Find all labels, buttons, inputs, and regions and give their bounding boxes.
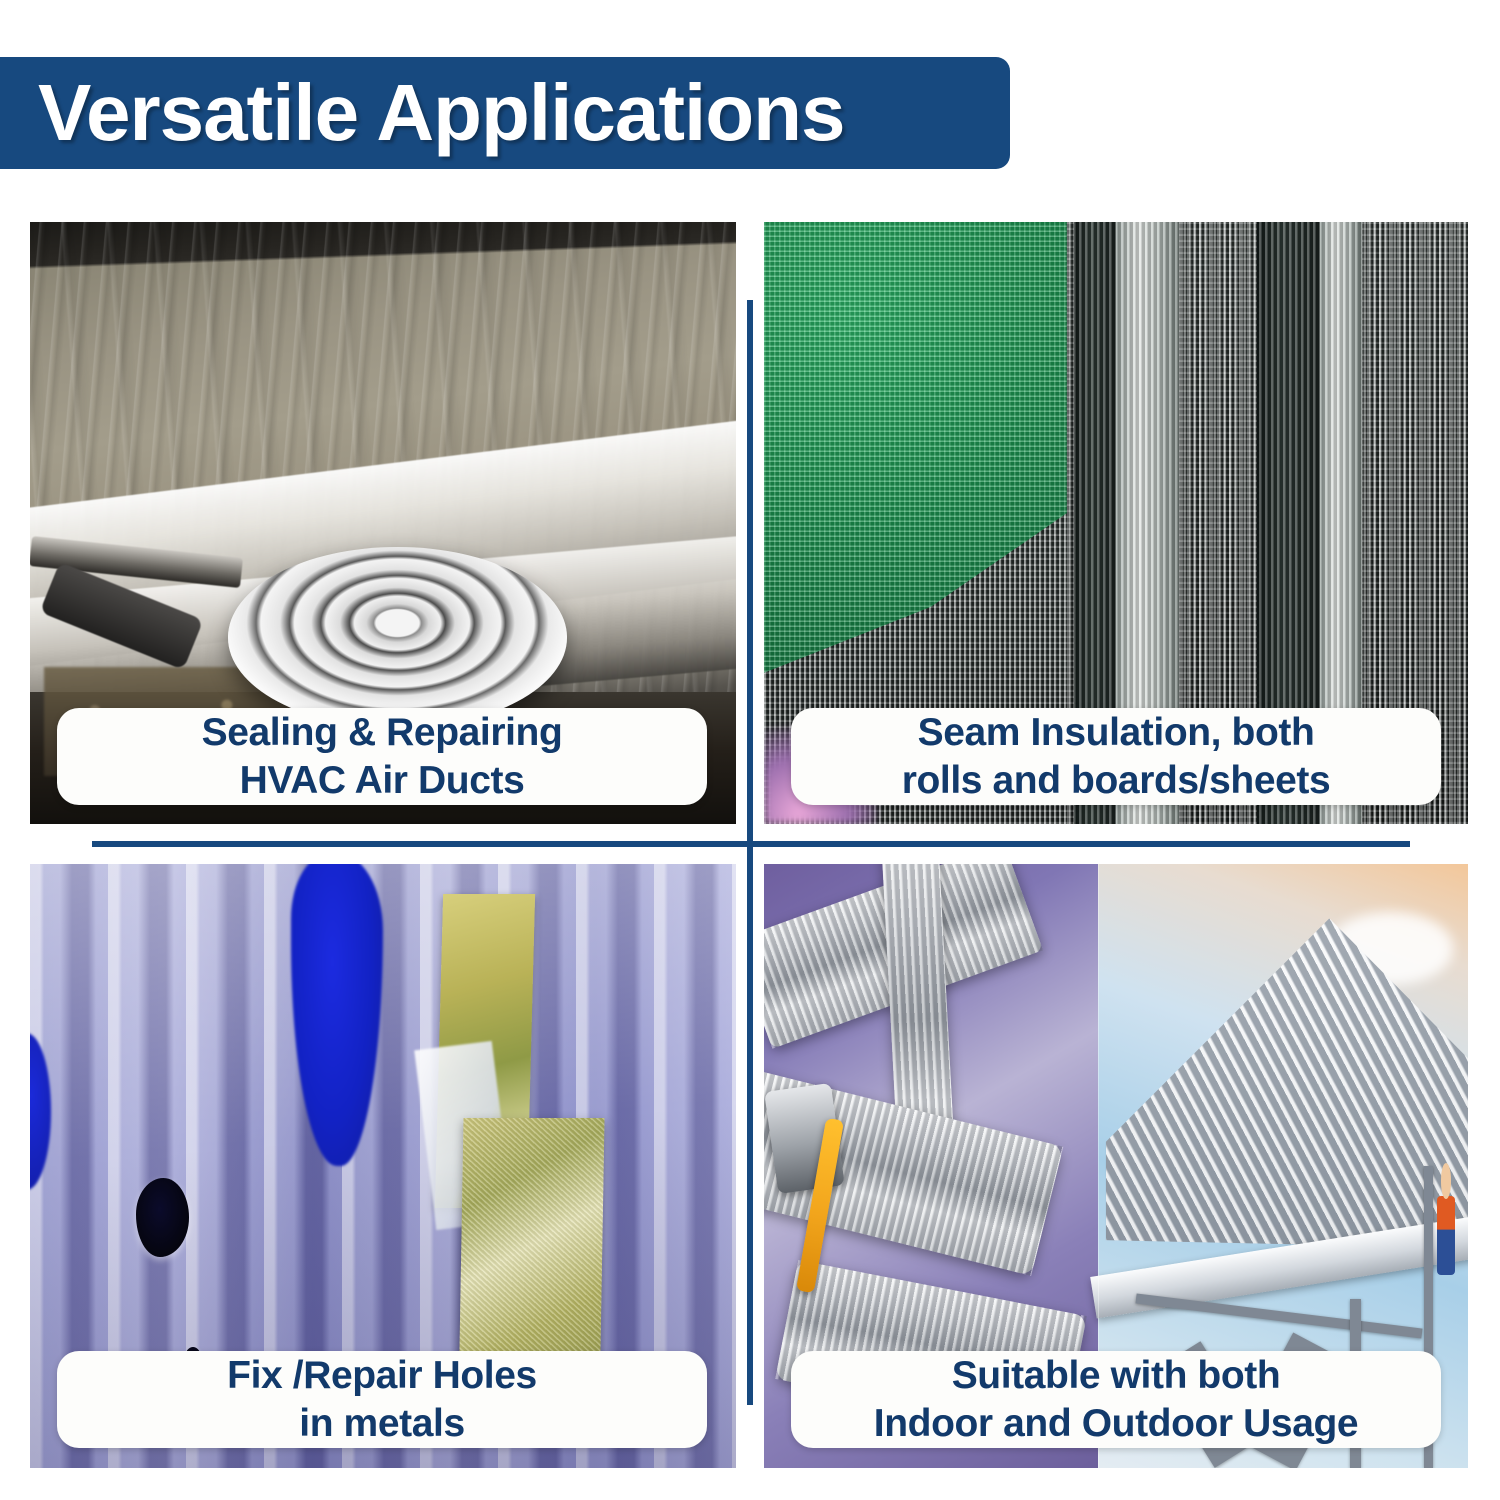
support-beam-1 [1136,1293,1423,1338]
caption-line-1: Suitable with both [952,1352,1281,1400]
caption-card-hvac: Sealing & Repairing HVAC Air Ducts [57,708,707,805]
header-banner: Versatile Applications [0,57,1010,169]
construction-worker [1437,1196,1455,1275]
page-title: Versatile Applications [38,73,844,153]
caption-line-2: in metals [299,1400,464,1448]
caption-card-seam: Seam Insulation, both rolls and boards/s… [791,708,1441,805]
divider-vertical [747,300,753,1405]
large-hole [136,1178,189,1257]
caption-line-1: Fix /Repair Holes [227,1352,537,1400]
caption-card-usage: Suitable with both Indoor and Outdoor Us… [791,1351,1441,1448]
divider-horizontal [92,841,1410,847]
caption-line-2: rolls and boards/sheets [902,757,1331,805]
round-ceiling-diffuser [228,547,567,728]
caption-line-2: Indoor and Outdoor Usage [874,1400,1358,1448]
caption-card-holes: Fix /Repair Holes in metals [57,1351,707,1448]
caption-line-1: Seam Insulation, both [918,709,1315,757]
caption-line-1: Sealing & Repairing [202,709,563,757]
caption-line-2: HVAC Air Ducts [240,757,525,805]
